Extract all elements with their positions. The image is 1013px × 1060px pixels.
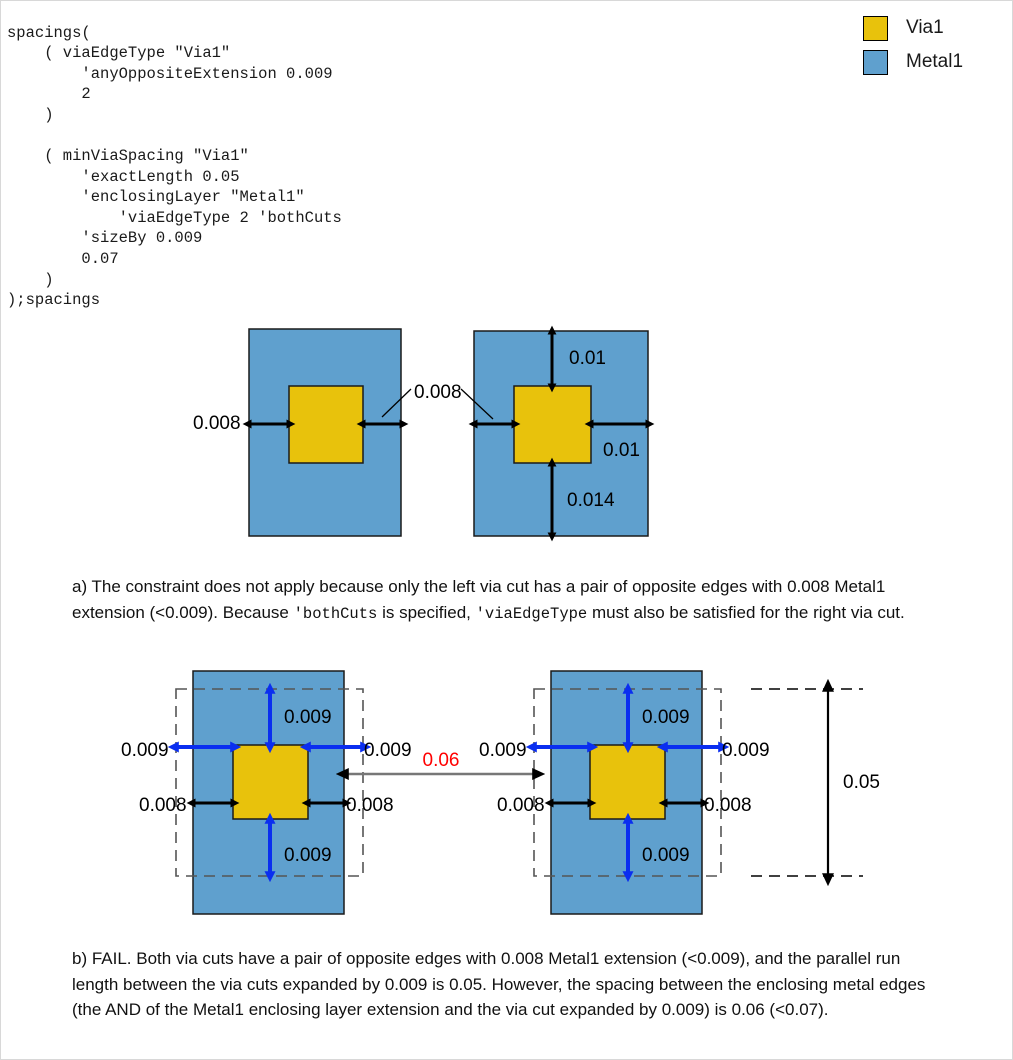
fig-b-label-l-right-0008: 0.008 — [346, 795, 394, 816]
fig-b-label-r-top-0009: 0.009 — [642, 707, 690, 728]
legend-item-metal1: Metal1 — [863, 45, 1008, 79]
fig-b-label-l-left-0009: 0.009 — [121, 740, 169, 761]
fig-b-label-r-left-0008: 0.008 — [497, 795, 545, 816]
figure-b: 0.009 0.009 0.009 0.009 0.008 0.008 0.00… — [1, 651, 1013, 926]
spacings-code-block: spacings( ( viaEdgeType "Via1" 'anyOppos… — [7, 23, 627, 311]
fig-b-label-l-top-0009: 0.009 — [284, 707, 332, 728]
caption-a: a) The constraint does not apply because… — [72, 574, 942, 627]
fig-b-label-r-bottom-0009: 0.009 — [642, 845, 690, 866]
legend-label-metal1: Metal1 — [906, 51, 963, 73]
fig-b-label-parallel-run-length: 0.05 — [843, 772, 880, 793]
legend-item-via1: Via1 — [863, 11, 1008, 45]
figure-a: 0.008 0.008 0.01 0.01 0.014 — [1, 311, 1013, 551]
fig-a-label-right-top-extension: 0.01 — [569, 348, 606, 369]
via1-color-swatch — [863, 16, 888, 41]
caption-a-code-bothcuts: 'bothCuts — [294, 605, 378, 623]
fig-a-label-right-side-extension: 0.01 — [603, 440, 640, 461]
legend-label-via1: Via1 — [906, 17, 944, 39]
fig-b-label-metal-spacing: 0.06 — [423, 750, 460, 771]
caption-a-part-4: must also be satisfied for the right via… — [587, 603, 904, 622]
fig-a-label-center-leader: 0.008 — [414, 382, 462, 403]
fig-a-right-via1-rect — [514, 386, 591, 463]
fig-b-label-r-left-0009: 0.009 — [479, 740, 527, 761]
fig-b-label-l-right-0009: 0.009 — [364, 740, 412, 761]
fig-a-left-via1-rect — [289, 386, 363, 463]
fig-b-label-l-bottom-0009: 0.009 — [284, 845, 332, 866]
fig-b-label-l-left-0008: 0.008 — [139, 795, 187, 816]
metal1-color-swatch — [863, 50, 888, 75]
caption-b-part-0: b) FAIL. Both via cuts have a pair of op… — [72, 949, 925, 1019]
fig-b-label-r-right-0008: 0.008 — [704, 795, 752, 816]
fig-b-left-via1-rect — [233, 745, 308, 819]
layer-legend: Via1 Metal1 — [863, 11, 1008, 79]
fig-a-label-left-outer-extension: 0.008 — [193, 413, 241, 434]
fig-b-label-r-right-0009: 0.009 — [722, 740, 770, 761]
fig-b-right-via1-rect — [590, 745, 665, 819]
fig-a-label-right-bottom-extension: 0.014 — [567, 490, 615, 511]
caption-a-code-viaedgetype: 'viaEdgeType — [476, 605, 588, 623]
caption-b: b) FAIL. Both via cuts have a pair of op… — [72, 946, 947, 1023]
caption-a-part-2: is specified, — [377, 603, 475, 622]
